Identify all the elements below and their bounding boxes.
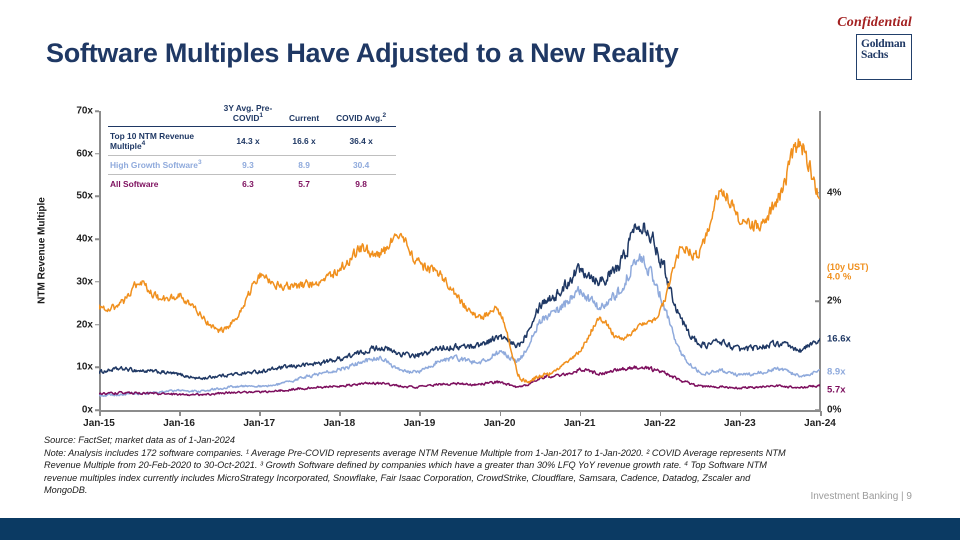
table-row-label: High Growth Software3 [108, 156, 214, 175]
x-tick-label: Jan-21 [564, 418, 596, 429]
table-row-label: Top 10 NTM Revenue Multiple4 [108, 127, 214, 156]
end-label-all-software: 5.7x [827, 384, 846, 395]
th-pre-covid: 3Y Avg. Pre- COVID1 [214, 103, 282, 127]
y2-tick-label: 2% [827, 296, 841, 307]
x-tick-label: Jan-22 [644, 418, 676, 429]
x-tick-mark [419, 411, 421, 416]
y2-tick-label: 0% [827, 405, 841, 416]
x-tick-mark [660, 411, 662, 416]
th-covid-avg: COVID Avg.2 [326, 103, 396, 127]
y-axis-title: NTM Revenue Multiple [37, 171, 48, 331]
y2-tick-label: 4% [827, 187, 841, 198]
goldman-sachs-logo: Goldman Sachs [856, 34, 912, 80]
end-label-ust-name: (10y UST) [827, 262, 869, 272]
table-cell-pre-covid: 9.3 [214, 156, 282, 175]
x-tick-mark [339, 411, 341, 416]
table-cell-covid-avg: 36.4 x [326, 127, 396, 156]
y-tick-label: 20x [55, 319, 93, 330]
x-tick-mark [99, 411, 101, 416]
chart-container: NTM Revenue Multiple 0x10x20x30x40x50x60… [0, 95, 960, 435]
end-label-high-growth: 8.9x [827, 366, 846, 377]
th-pre-covid-label2: COVID1 [233, 113, 263, 123]
x-tick-mark [500, 411, 502, 416]
footnote-source: Source: FactSet; market data as of 1-Jan… [44, 434, 792, 447]
end-label-ust-value: 4.0 % [827, 272, 851, 283]
table-cell-covid-avg: 9.8 [326, 175, 396, 194]
table-row: High Growth Software39.38.930.4 [108, 156, 396, 175]
table-row: All Software6.35.79.8 [108, 175, 396, 194]
end-label-top10: 16.6x [827, 334, 851, 345]
slide: Confidential Goldman Sachs Software Mult… [0, 0, 960, 540]
x-tick-label: Jan-20 [484, 418, 516, 429]
logo-line-2: Sachs [861, 50, 911, 61]
table-cell-covid-avg: 30.4 [326, 156, 396, 175]
x-tick-label: Jan-19 [404, 418, 436, 429]
x-tick-label: Jan-17 [243, 418, 275, 429]
summary-table: 3Y Avg. Pre- COVID1 Current COVID Avg.2 … [108, 103, 396, 193]
table-cell-pre-covid: 6.3 [214, 175, 282, 194]
footnotes: Source: FactSet; market data as of 1-Jan… [44, 434, 792, 497]
x-tick-label: Jan-18 [323, 418, 355, 429]
x-tick-mark [259, 411, 261, 416]
table-cell-current: 16.6 x [282, 127, 326, 156]
x-tick-label: Jan-23 [724, 418, 756, 429]
x-tick-mark [740, 411, 742, 416]
table-row-label: All Software [108, 175, 214, 194]
x-tick-mark [179, 411, 181, 416]
th-current: Current [282, 103, 326, 127]
x-tick-mark [820, 411, 822, 416]
y-tick-label: 10x [55, 362, 93, 373]
th-blank [108, 103, 214, 127]
bottom-band [0, 518, 960, 540]
table-header-row: 3Y Avg. Pre- COVID1 Current COVID Avg.2 [108, 103, 396, 127]
x-axis [99, 410, 821, 412]
th-pre-covid-label: 3Y Avg. Pre- [224, 103, 273, 113]
y-tick-label: 40x [55, 234, 93, 245]
x-tick-label: Jan-16 [163, 418, 195, 429]
table-cell-current: 8.9 [282, 156, 326, 175]
x-tick-mark [580, 411, 582, 416]
footnote-note: Note: Analysis includes 172 software com… [44, 448, 786, 496]
page-footer: Investment Banking | 9 [810, 491, 912, 502]
y-tick-label: 50x [55, 191, 93, 202]
y-tick-label: 0x [55, 405, 93, 416]
footnote-ref-2: 2 [382, 112, 386, 119]
page-title: Software Multiples Have Adjusted to a Ne… [46, 38, 678, 69]
footnote-ref-1: 1 [259, 112, 263, 119]
table-cell-current: 5.7 [282, 175, 326, 194]
x-tick-label: Jan-15 [83, 418, 115, 429]
table-row: Top 10 NTM Revenue Multiple414.3 x16.6 x… [108, 127, 396, 156]
y-tick-label: 60x [55, 148, 93, 159]
y-tick-label: 30x [55, 276, 93, 287]
table-cell-pre-covid: 14.3 x [214, 127, 282, 156]
confidential-marking: Confidential [837, 15, 912, 31]
y-tick-label: 70x [55, 106, 93, 117]
x-tick-label: Jan-24 [804, 418, 836, 429]
table-body: Top 10 NTM Revenue Multiple414.3 x16.6 x… [108, 127, 396, 194]
